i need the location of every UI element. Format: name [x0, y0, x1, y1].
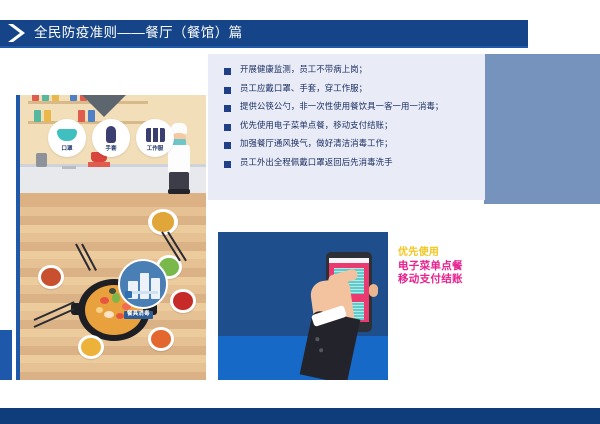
jar-icon — [44, 110, 51, 122]
food-piece — [116, 313, 124, 319]
bubble-label: 口罩 — [48, 147, 86, 153]
list-item-label: 开展健康监测，员工不带病上岗； — [240, 65, 367, 75]
bubble-mask: 口罩 — [48, 119, 86, 157]
food-piece — [96, 307, 103, 313]
guidelines-panel: 开展健康监测，员工不带病上岗； 员工应戴口罩、手套，穿工作服； 提供公筷公勺，非… — [208, 54, 485, 200]
side-dish — [148, 327, 174, 351]
kitchen-floor — [20, 193, 206, 207]
jar-icon — [32, 95, 39, 101]
side-dish — [78, 335, 104, 359]
list-item-label: 优先使用电子菜单点餐，移动支付结账； — [240, 121, 393, 131]
page-title: 全民防疫准则——餐厅（餐馆）篇 — [34, 26, 243, 41]
bullet-square-icon — [224, 142, 231, 149]
list-item: 提供公筷公勺，非一次性使用餐饮具一客一用一消毒； — [224, 102, 479, 112]
cuff-button — [319, 348, 324, 353]
side-dish-fill — [152, 212, 175, 232]
dish-stack-icon — [151, 278, 160, 299]
list-item: 员工外出全程佩戴口罩返回后先消毒洗手 — [224, 158, 479, 168]
promo-line-2: 电子菜单点餐 — [398, 260, 502, 274]
cuff-button — [315, 337, 320, 342]
dish-rack — [132, 291, 158, 294]
hotpot-table-scene: 餐具消毒 — [20, 207, 206, 380]
list-item: 优先使用电子菜单点餐，移动支付结账； — [224, 121, 479, 131]
uniform-icon — [136, 125, 174, 145]
list-item-label: 提供公筷公勺，非一次性使用餐饮具一客一用一消毒； — [240, 102, 443, 112]
sink-icon — [62, 166, 76, 169]
kettle-icon — [36, 153, 47, 167]
jar-icon — [52, 95, 59, 101]
stove-icon — [88, 162, 110, 167]
decor-right-block — [484, 54, 600, 204]
side-dish-fill — [151, 330, 171, 348]
side-dish-fill — [81, 338, 101, 356]
chef-shoes — [168, 189, 190, 194]
bubble-label: 手套 — [92, 147, 130, 153]
bullet-square-icon — [224, 124, 231, 131]
food-piece — [100, 297, 109, 304]
promo-text-block: 优先使用 电子菜单点餐 移动支付结账 — [398, 247, 502, 287]
promo-line-3: 移动支付结账 — [398, 273, 502, 287]
dish-disinfection-badge — [118, 259, 168, 309]
list-item: 加强餐厅通风换气，做好清洁消毒工作； — [224, 139, 479, 149]
jar-icon — [70, 95, 77, 101]
side-dish-fill — [173, 292, 193, 310]
side-dish — [38, 265, 64, 289]
bubble-glove: 手套 — [92, 119, 130, 157]
hood-pipe — [100, 95, 108, 103]
food-piece — [104, 311, 114, 318]
promo-line-1: 优先使用 — [398, 247, 502, 260]
kitchen-scene: 口罩 手套 工作服 — [20, 95, 206, 207]
list-item-label: 员工外出全程佩戴口罩返回后先消毒洗手 — [240, 158, 393, 168]
food-piece — [112, 293, 120, 303]
phone-status-bar — [329, 258, 369, 263]
footer-bar — [0, 408, 600, 424]
restaurant-illustration: 口罩 手套 工作服 — [16, 95, 206, 380]
face-mask-icon — [48, 125, 86, 145]
side-dish — [170, 289, 196, 313]
dish-badge — [125, 291, 132, 298]
page-header: 全民防疫准则——餐厅（餐馆）篇 — [0, 20, 528, 46]
header-underline — [0, 46, 528, 48]
bullet-square-icon — [224, 68, 231, 75]
list-item: 开展健康监测，员工不带病上岗； — [224, 65, 479, 75]
bullet-square-icon — [224, 161, 231, 168]
chevron-right-icon — [0, 20, 34, 46]
glove-icon — [92, 125, 130, 145]
bullet-square-icon — [224, 105, 231, 112]
thumb — [369, 284, 378, 297]
bubble-label: 工作服 — [136, 147, 174, 153]
list-item-label: 员工应戴口罩、手套，穿工作服； — [240, 84, 367, 94]
chef-legs — [169, 172, 189, 190]
bubble-uniform: 工作服 — [136, 119, 174, 157]
dish-disinfection-label: 餐具消毒 — [124, 311, 153, 319]
bullet-square-icon — [224, 87, 231, 94]
list-item-label: 加强餐厅通风换气，做好清洁消毒工作； — [240, 139, 393, 149]
food-piece — [109, 288, 116, 294]
dish-stack-icon — [140, 273, 149, 299]
jar-icon — [42, 95, 49, 101]
list-item: 员工应戴口罩、手套，穿工作服； — [224, 84, 479, 94]
decor-left-tab — [0, 330, 12, 380]
side-dish-fill — [41, 268, 61, 286]
mobile-payment-illustration — [218, 232, 388, 380]
jar-icon — [34, 110, 41, 122]
